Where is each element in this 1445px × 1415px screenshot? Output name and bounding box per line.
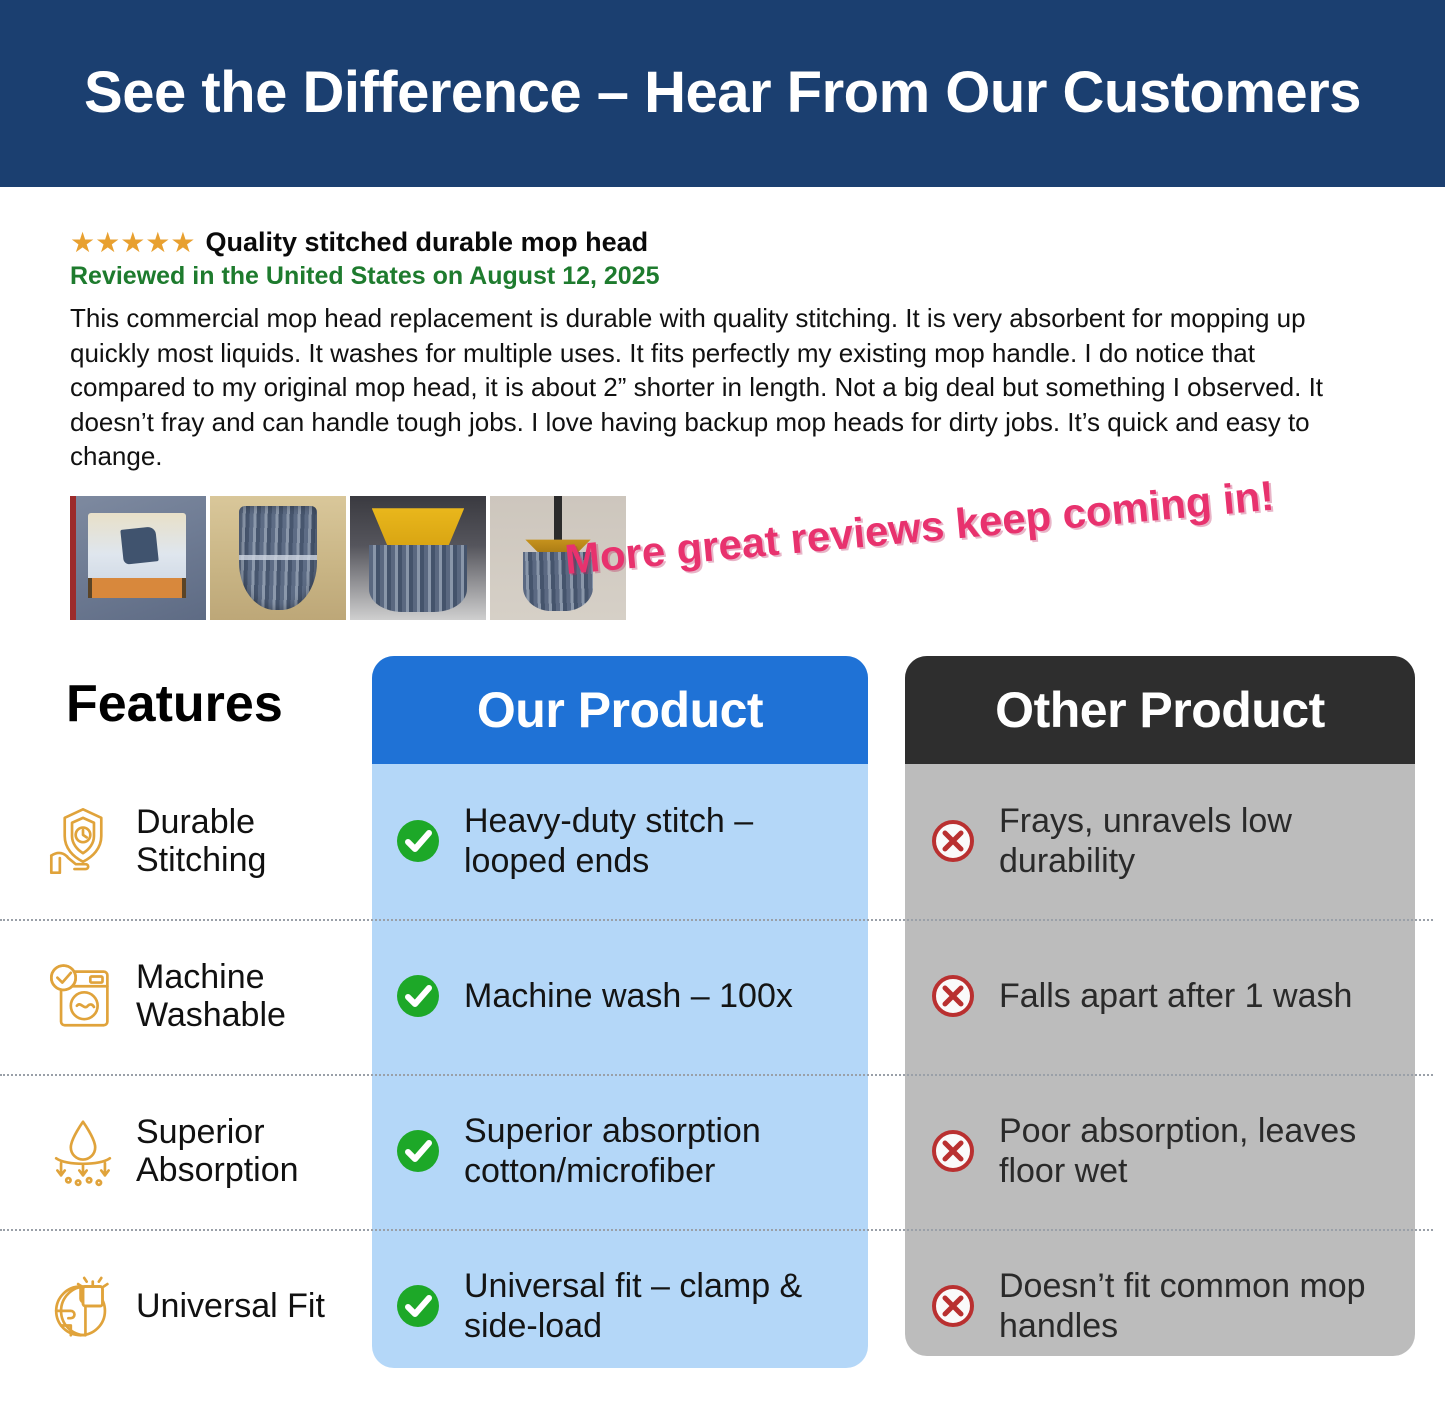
puzzle-globe-fit-icon	[44, 1267, 122, 1345]
other-product-text: Frays, unravels low durability	[999, 801, 1401, 883]
other-product-column-header: Other Product	[905, 656, 1415, 764]
feature-cell: Universal Fit	[0, 1229, 372, 1384]
our-product-text: Universal fit – clamp & side-load	[464, 1266, 852, 1348]
review-title: Quality stitched durable mop head	[206, 227, 649, 258]
feature-label: Universal Fit	[136, 1287, 325, 1325]
our-product-cell: Universal fit – clamp & side-load	[372, 1229, 868, 1384]
table-row: Universal Fit Universal fit – clamp & si…	[0, 1229, 1445, 1384]
feature-cell: Machine Washable	[0, 919, 372, 1074]
cross-icon	[929, 972, 977, 1020]
other-product-text: Poor absorption, leaves floor wet	[999, 1111, 1401, 1193]
product-comparison-table: Features Our Product Other Product Durab…	[0, 656, 1445, 1376]
our-product-cell: Heavy-duty stitch – looped ends	[372, 764, 868, 919]
other-product-cell: Poor absorption, leaves floor wet	[905, 1074, 1415, 1229]
feature-label: Superior Absorption	[136, 1113, 366, 1189]
feature-cell: Superior Absorption	[0, 1074, 372, 1229]
check-icon	[394, 1282, 442, 1330]
our-product-text: Machine wash – 100x	[464, 976, 793, 1017]
table-row: Machine Washable Machine wash – 100x	[0, 919, 1445, 1074]
mop-head-on-ground-thumbnail[interactable]	[210, 496, 346, 620]
review-headline: ★★★★★ Quality stitched durable mop head	[70, 227, 1375, 258]
mop-head-yellow-clamp-thumbnail[interactable]	[350, 496, 486, 620]
review-media-row: More great reviews keep coming in!	[0, 474, 1445, 644]
our-product-text: Heavy-duty stitch – looped ends	[464, 801, 852, 883]
our-product-text: Superior absorption cotton/microfiber	[464, 1111, 852, 1193]
other-product-cell: Falls apart after 1 wash	[905, 919, 1415, 1074]
cross-icon	[929, 1127, 977, 1175]
other-product-cell: Doesn’t fit common mop handles	[905, 1229, 1415, 1384]
review-body-text: This commercial mop head replacement is …	[70, 301, 1375, 474]
shield-in-hand-icon	[44, 802, 122, 880]
other-product-text: Doesn’t fit common mop handles	[999, 1266, 1401, 1348]
cross-icon	[929, 817, 977, 865]
table-row: Superior Absorption Superior absorption …	[0, 1074, 1445, 1229]
our-product-cell: Machine wash – 100x	[372, 919, 868, 1074]
page-title: See the Difference – Hear From Our Custo…	[84, 58, 1361, 129]
features-column-header: Features	[66, 674, 283, 734]
review-thumbnail-strip	[70, 496, 626, 620]
washing-machine-icon	[44, 957, 122, 1035]
table-row: Durable Stitching Heavy-duty stitch – lo…	[0, 764, 1445, 919]
our-product-column-header: Our Product	[372, 656, 868, 764]
customer-review-block: ★★★★★ Quality stitched durable mop head …	[0, 187, 1445, 474]
other-product-cell: Frays, unravels low durability	[905, 764, 1415, 919]
page-header-banner: See the Difference – Hear From Our Custo…	[0, 0, 1445, 187]
our-product-cell: Superior absorption cotton/microfiber	[372, 1074, 868, 1229]
check-icon	[394, 972, 442, 1020]
packaged-mop-head-thumbnail[interactable]	[70, 496, 206, 620]
feature-label: Durable Stitching	[136, 803, 366, 879]
review-date: Reviewed in the United States on August …	[70, 262, 1375, 291]
check-icon	[394, 817, 442, 865]
cross-icon	[929, 1282, 977, 1330]
feature-cell: Durable Stitching	[0, 764, 372, 919]
five-star-rating-icon: ★★★★★	[70, 229, 196, 257]
water-droplet-absorption-icon	[44, 1112, 122, 1190]
feature-label: Machine Washable	[136, 958, 366, 1034]
comparison-rows: Durable Stitching Heavy-duty stitch – lo…	[0, 764, 1445, 1384]
other-product-text: Falls apart after 1 wash	[999, 976, 1352, 1017]
check-icon	[394, 1127, 442, 1175]
promo-banner-text: More great reviews keep coming in!	[563, 471, 1276, 583]
